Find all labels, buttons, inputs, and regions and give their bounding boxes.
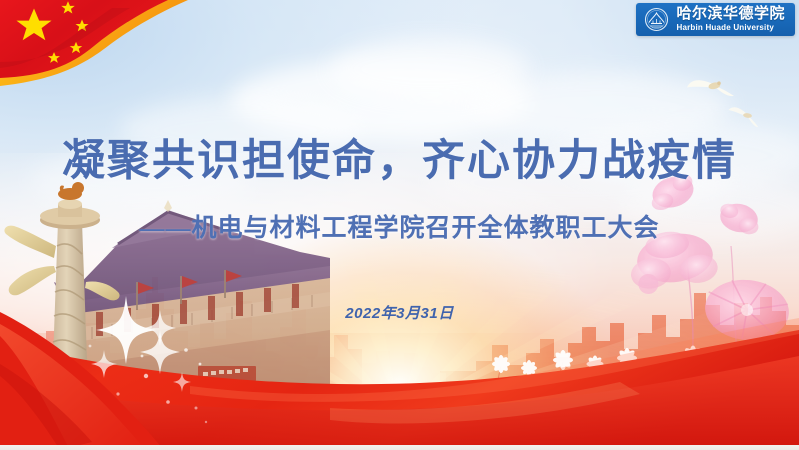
university-seal-icon [644, 7, 669, 32]
logo-name-en: Harbin Huade University [676, 24, 785, 32]
poster-canvas: 哈尔滨华德学院 Harbin Huade University 凝聚共识担使命，… [0, 0, 799, 450]
bottom-strip [0, 445, 799, 450]
poster-subtitle: ——机电与材料工程学院召开全体教职工大会 [0, 208, 799, 244]
poster-title: 凝聚共识担使命，齐心协力战疫情 [0, 126, 799, 188]
university-logo[interactable]: 哈尔滨华德学院 Harbin Huade University [636, 3, 795, 36]
logo-name-cn: 哈尔滨华德学院 [676, 7, 785, 22]
logo-text-block: 哈尔滨华德学院 Harbin Huade University [676, 7, 785, 32]
poster-date: 2022年3月31日 [0, 302, 799, 323]
